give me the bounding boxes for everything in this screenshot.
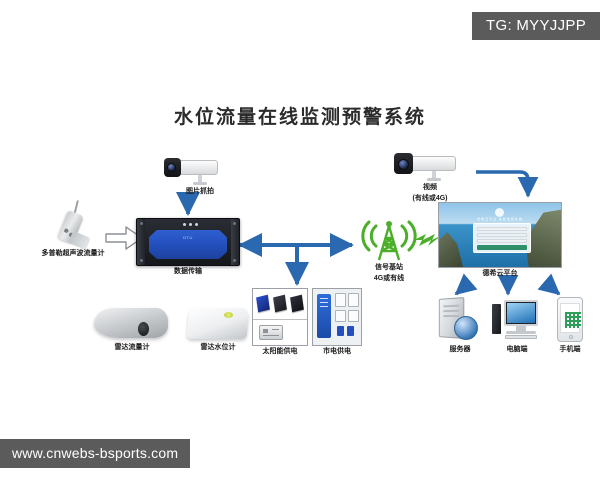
signal-station-label: 信号基站 (354, 264, 424, 273)
login-button[interactable] (477, 245, 527, 250)
captcha-field[interactable] (477, 239, 527, 243)
page-title: 水位流量在线监测预警系统 (0, 102, 600, 129)
data-transmission-label: 数据传输 (136, 268, 240, 277)
arrow-cloud-to-server (456, 282, 470, 294)
radar-level-gauge-label: 雷达水位计 (180, 344, 256, 353)
node-data-transmission: DTU 数据传输 (136, 218, 240, 277)
signal-station-sub-label: 4G或有线 (354, 275, 424, 284)
video-camera-label: 视频 (372, 184, 488, 193)
cloud-logo-icon (495, 208, 504, 217)
node-signal-station: 信号基站 4G或有线 (354, 218, 424, 284)
node-pc-client: 电脑端 (492, 296, 542, 355)
node-mobile-client: 手机端 (548, 296, 592, 355)
arrow-cloud-to-phone (545, 282, 559, 294)
radar-level-gauge-icon (180, 300, 256, 342)
dtu-device-text: DTU (137, 235, 239, 240)
node-cloud-platform[interactable]: 德希云平台 在线监测系统 德希云平台 (438, 202, 562, 279)
radar-flowmeter-icon (92, 300, 172, 342)
solar-power-label: 太阳能供电 (252, 348, 308, 357)
video-camera-icon (372, 148, 488, 182)
diagram-canvas: TG: MYYJJPP www.cnwebs-bsports.com 水位流量在… (0, 0, 600, 480)
cloud-platform-label: 德希云平台 (438, 270, 562, 279)
server-label: 服务器 (432, 346, 488, 355)
node-radar-flowmeter: 雷达流量计 (92, 300, 172, 353)
signal-tower-icon (354, 218, 424, 262)
dtu-device-icon: DTU (136, 218, 240, 266)
cloud-platform-screenshot[interactable]: 德希云平台 在线监测系统 (438, 202, 562, 268)
node-image-camera: 图片抓拍 (144, 152, 256, 197)
doppler-device-icon (18, 200, 128, 248)
node-video-camera: 视频 (有线或4G) (372, 148, 488, 204)
node-radar-level-gauge: 雷达水位计 (180, 300, 256, 353)
desktop-computer-icon (492, 296, 542, 344)
password-field[interactable] (477, 233, 527, 237)
doppler-flowmeter-label: 多普勒超声波流量计 (18, 250, 128, 259)
image-camera-label: 图片抓拍 (144, 188, 256, 197)
solar-power-icon (252, 288, 308, 346)
server-icon (432, 296, 488, 344)
camera-icon (144, 152, 256, 186)
node-solar-power: 太阳能供电 (252, 288, 308, 357)
smartphone-icon (548, 296, 592, 344)
mobile-client-label: 手机端 (548, 346, 592, 355)
doppler-head (68, 231, 90, 250)
node-doppler-flowmeter: 多普勒超声波流量计 (18, 200, 128, 259)
username-field[interactable] (477, 227, 527, 231)
node-server: 服务器 (432, 296, 488, 355)
mains-power-label: 市电供电 (312, 348, 362, 357)
radar-flowmeter-label: 雷达流量计 (92, 344, 172, 353)
mains-power-icon (312, 288, 362, 346)
node-mains-power: 市电供电 (312, 288, 362, 357)
cloud-screen-title: 德希云平台 在线监测系统 (439, 217, 561, 221)
tag-badge: TG: MYYJJPP (472, 12, 600, 40)
pc-client-label: 电脑端 (492, 346, 542, 355)
watermark-badge: www.cnwebs-bsports.com (0, 439, 190, 468)
cloud-login-panel[interactable] (473, 223, 531, 253)
